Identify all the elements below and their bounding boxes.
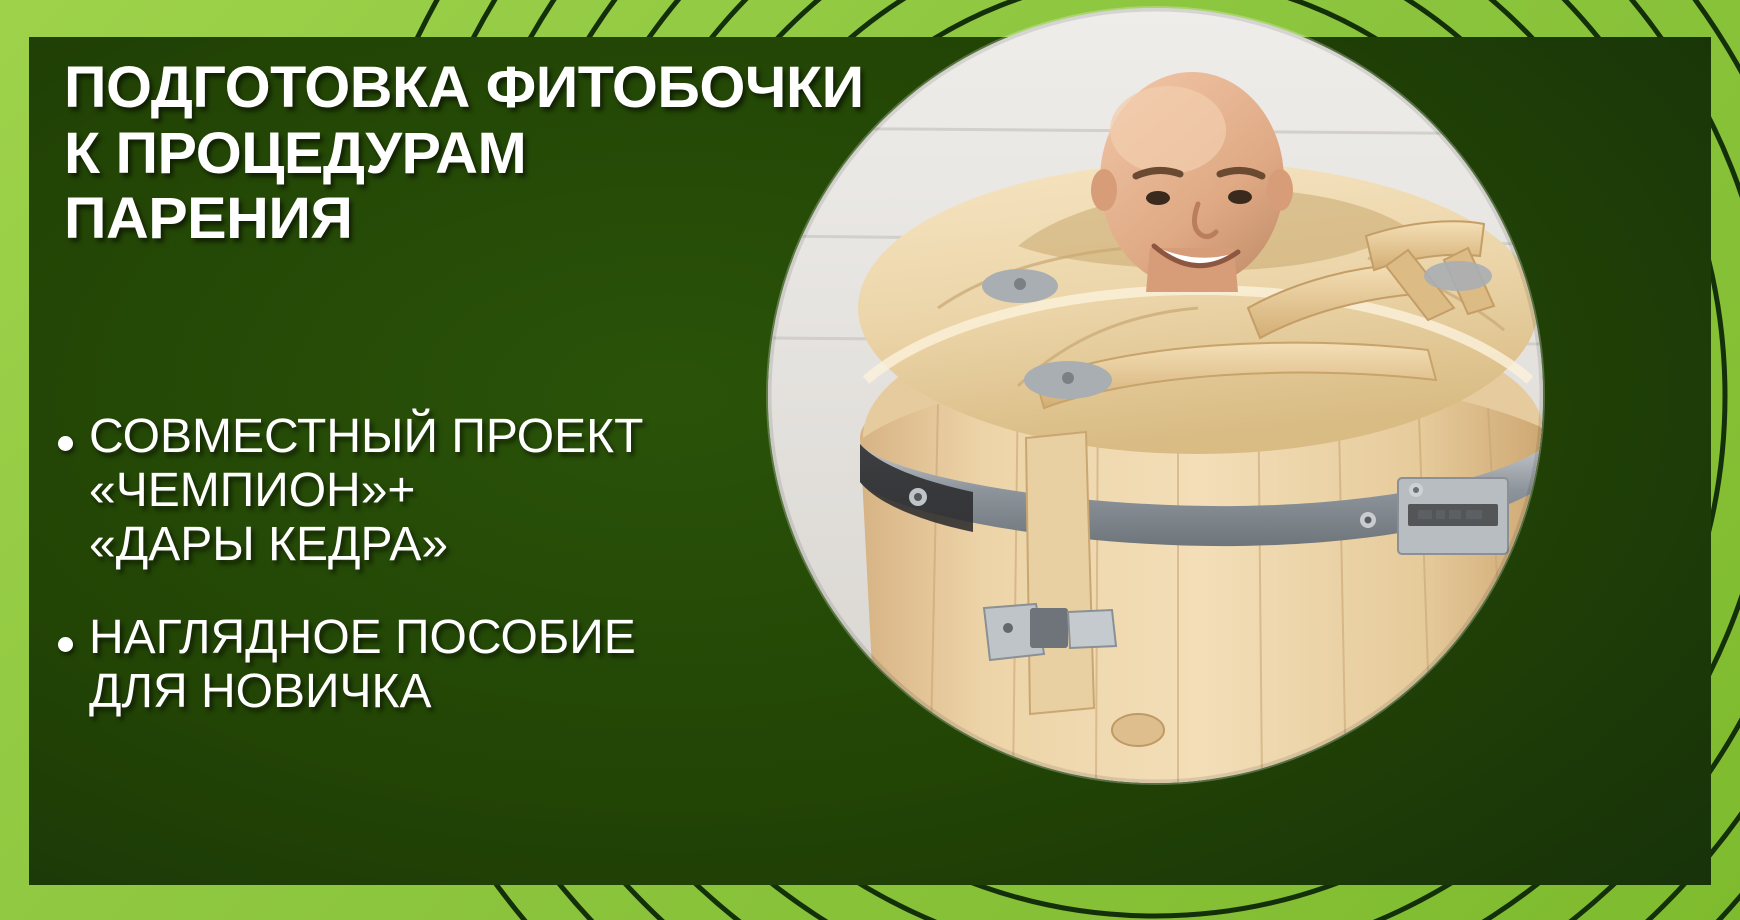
title-line-1: ПОДГОТОВКА ФИТОБОЧКИ bbox=[64, 55, 941, 121]
bullet-2-line-2: ДЛЯ НОВИЧКА bbox=[89, 665, 636, 719]
bullet-1-line-2: «ЧЕМПИОН»+ bbox=[89, 464, 643, 518]
page-title: ПОДГОТОВКА ФИТОБОЧКИ К ПРОЦЕДУРАМ ПАРЕНИ… bbox=[64, 55, 941, 252]
bullet-2-text: НАГЛЯДНОЕ ПОСОБИЕ ДЛЯ НОВИЧКА bbox=[89, 611, 636, 719]
bullet-2-line-1: НАГЛЯДНОЕ ПОСОБИЕ bbox=[89, 611, 636, 665]
list-item: СОВМЕСТНЫЙ ПРОЕКТ «ЧЕМПИОН»+ «ДАРЫ КЕДРА… bbox=[58, 410, 858, 571]
bullet-1-line-3: «ДАРЫ КЕДРА» bbox=[89, 518, 643, 572]
title-line-2: К ПРОЦЕДУРАМ bbox=[64, 121, 941, 187]
list-item: НАГЛЯДНОЕ ПОСОБИЕ ДЛЯ НОВИЧКА bbox=[58, 611, 858, 719]
bullet-dot-icon bbox=[58, 637, 73, 652]
bullet-1-text: СОВМЕСТНЫЙ ПРОЕКТ «ЧЕМПИОН»+ «ДАРЫ КЕДРА… bbox=[89, 410, 643, 571]
promo-slide: ПОДГОТОВКА ФИТОБОЧКИ К ПРОЦЕДУРАМ ПАРЕНИ… bbox=[0, 0, 1740, 920]
bullet-1-line-1: СОВМЕСТНЫЙ ПРОЕКТ bbox=[89, 410, 643, 464]
bullet-list: СОВМЕСТНЫЙ ПРОЕКТ «ЧЕМПИОН»+ «ДАРЫ КЕДРА… bbox=[58, 410, 858, 719]
title-line-3: ПАРЕНИЯ bbox=[64, 186, 941, 252]
bullet-dot-icon bbox=[58, 436, 73, 451]
